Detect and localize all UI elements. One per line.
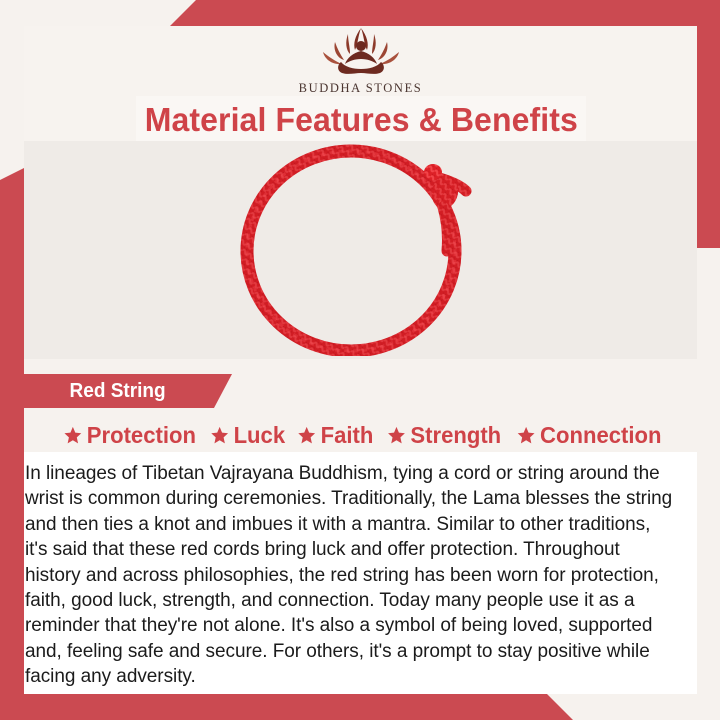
benefit-item: Strength	[387, 422, 502, 449]
red-string-bracelet-image	[231, 144, 491, 356]
benefit-item: Protection	[63, 422, 196, 449]
star-icon	[387, 425, 407, 446]
star-icon	[63, 425, 83, 446]
infographic-page: BUDDHA STONES Material Features & Benefi…	[0, 0, 720, 720]
star-icon	[516, 425, 536, 446]
benefit-label: Connection	[540, 422, 661, 449]
star-icon	[297, 425, 317, 446]
product-image-area	[24, 141, 697, 359]
frame-bottom-bar	[0, 694, 580, 720]
star-icon	[209, 425, 229, 446]
benefits-row: Protection Luck Faith Strength Connectio…	[24, 418, 704, 452]
title-band: Material Features & Benefits	[136, 96, 586, 144]
brand-name: BUDDHA STONES	[299, 81, 423, 96]
description-block: In lineages of Tibetan Vajrayana Buddhis…	[24, 452, 697, 694]
frame-right-bar	[697, 0, 720, 248]
benefit-label: Protection	[87, 422, 196, 449]
description-text: In lineages of Tibetan Vajrayana Buddhis…	[25, 461, 673, 690]
benefit-item: Faith	[297, 422, 374, 449]
brand-logo: BUDDHA STONES	[24, 22, 697, 96]
benefit-label: Strength	[411, 422, 502, 449]
product-name-banner: Red String	[24, 374, 232, 408]
benefit-item: Connection	[516, 422, 661, 449]
page-title: Material Features & Benefits	[144, 101, 577, 139]
lotus-meditation-icon	[301, 22, 421, 84]
benefit-item: Luck	[209, 422, 285, 449]
benefit-label: Luck	[233, 422, 285, 449]
frame-left-bar	[0, 168, 24, 720]
product-name-label: Red String	[70, 380, 166, 403]
benefit-label: Faith	[321, 422, 374, 449]
